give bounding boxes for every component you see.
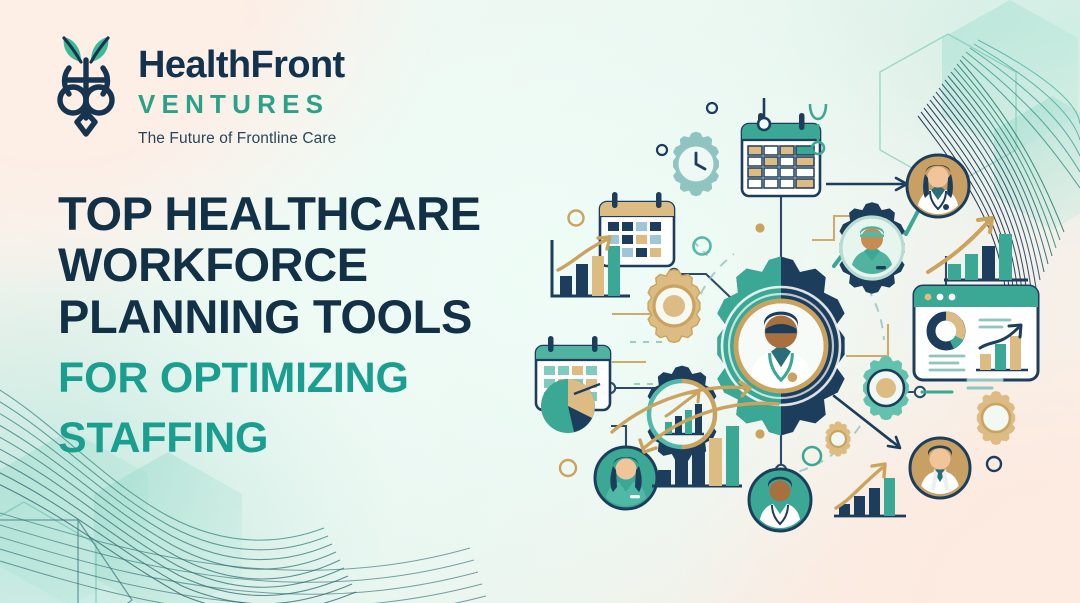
text-line-accents (922, 380, 1002, 392)
headline-line-2: WORKFORCE (58, 239, 528, 290)
illustration-healthcare-workforce (516, 96, 1080, 526)
avatar-doctor-bottom-center (749, 469, 811, 531)
illustration-svg (516, 96, 1080, 526)
avatar-female-doctor-top-right (907, 155, 969, 217)
bar-chart-bottom-right (834, 464, 906, 516)
headline-accent-1: FOR OPTIMIZING (58, 355, 528, 402)
gear-gold-right (977, 391, 1015, 445)
pie-chart-icon (541, 379, 600, 433)
brand-subname: VENTURES (138, 91, 345, 117)
headline-block: TOP HEALTHCARE WORKFORCE PLANNING TOOLS … (58, 188, 528, 462)
calendar-green-schedule (742, 113, 820, 196)
gear-gold-small (648, 270, 700, 343)
banner-canvas: HealthFront VENTURES The Future of Front… (0, 0, 1080, 603)
headline-line-1: TOP HEALTHCARE (58, 188, 528, 239)
brand-name: HealthFront (138, 46, 345, 84)
headline-accent-2: STAFFING (58, 415, 528, 462)
avatar-nurse-bottom-left (595, 447, 657, 509)
caduceus-leaf-icon (48, 34, 124, 138)
gear-gold-tiny (825, 421, 850, 456)
central-gear-doctor (717, 257, 844, 436)
headline-line-3: PLANNING TOOLS (58, 291, 528, 342)
arrow-to-avatar-top-right (826, 178, 907, 190)
dashboard-window (914, 286, 1038, 380)
gear-teal-small (863, 356, 909, 420)
brand-logo[interactable]: HealthFront VENTURES The Future of Front… (48, 32, 345, 148)
avatar-male-doctor-right (910, 438, 970, 498)
bar-chart-trend-right (928, 218, 1028, 280)
brand-tagline: The Future of Frontline Care (138, 130, 345, 148)
clock-gear-icon (673, 132, 719, 196)
